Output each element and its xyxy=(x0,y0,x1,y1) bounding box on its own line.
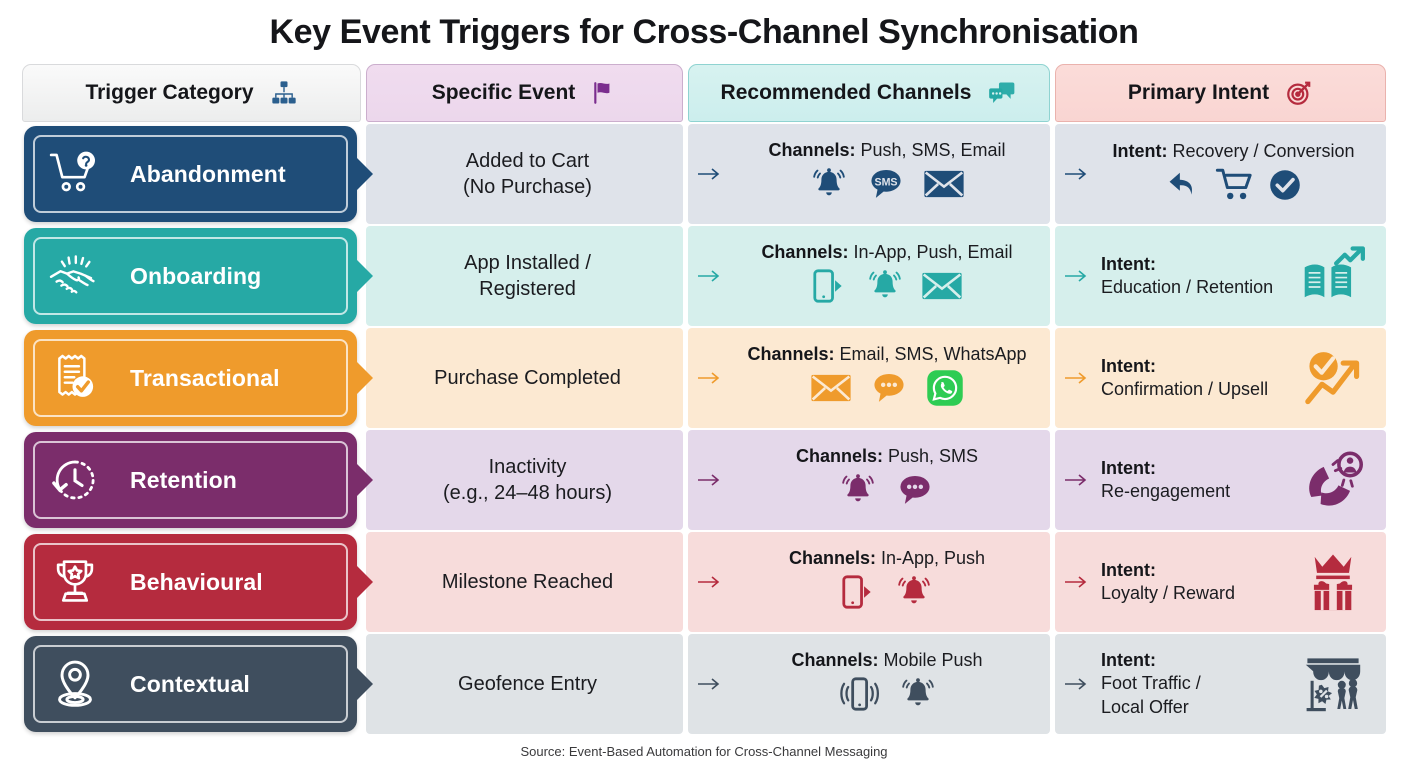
intent-cell: Intent: Recovery / Conversion xyxy=(1055,124,1386,224)
event-label: Geofence Entry xyxy=(458,671,597,697)
event-label: App Installed / Registered xyxy=(464,250,591,302)
intent-label: Intent: xyxy=(1101,356,1156,376)
intent-value: Re-engagement xyxy=(1101,480,1290,503)
channels-value: In-App, Push, Email xyxy=(853,242,1012,262)
intent-text: Intent: Recovery / Conversion xyxy=(1112,140,1354,163)
channels-text: Channels: Push, SMS xyxy=(796,446,978,467)
source-caption: Source: Event-Based Automation for Cross… xyxy=(0,744,1408,759)
table-row: Contextual Geofence Entry Channels: Mobi… xyxy=(22,634,1386,734)
chat-bubbles-icon xyxy=(987,79,1017,107)
channels-value: In-App, Push xyxy=(881,548,985,568)
header-trigger-category: Trigger Category xyxy=(22,64,361,122)
intent-label: Intent: xyxy=(1112,141,1167,161)
event-label: Added to Cart (No Purchase) xyxy=(463,148,592,200)
arrow-icon xyxy=(1061,370,1091,386)
arrow-icon xyxy=(694,370,724,386)
event-cell: App Installed / Registered xyxy=(366,226,683,326)
row-notch xyxy=(356,157,373,191)
header-specific-event: Specific Event xyxy=(366,64,683,122)
intent-cell: Intent: Re-engagement xyxy=(1055,430,1386,530)
intent-label: Intent: xyxy=(1101,254,1156,274)
row-notch xyxy=(356,463,373,497)
infographic-page: Key Event Triggers for Cross-Channel Syn… xyxy=(0,0,1408,768)
envelope-icon xyxy=(810,371,852,410)
table-row: Behavioural Milestone Reached Channels: … xyxy=(22,532,1386,632)
category-cell: Behavioural xyxy=(22,532,361,632)
trigger-table: Trigger Category Specific Event xyxy=(22,64,1386,734)
arrow-icon xyxy=(694,676,724,692)
channel-icon-set xyxy=(810,369,964,412)
table-row: Abandonment Added to Cart (No Purchase) … xyxy=(22,124,1386,224)
channels-label: Channels: xyxy=(789,548,876,568)
mobile-signal-icon xyxy=(836,675,882,718)
arrow-icon xyxy=(1061,166,1091,182)
intent-label: Intent: xyxy=(1101,458,1156,478)
intent-cell: Intent: Education / Retention xyxy=(1055,226,1386,326)
intent-label: Intent: xyxy=(1101,560,1156,580)
bell-icon xyxy=(838,471,878,514)
intent-cell: Intent: Confirmation / Upsell xyxy=(1055,328,1386,428)
intent-cell: Intent: Loyalty / Reward xyxy=(1055,532,1386,632)
arrow-icon xyxy=(694,472,724,488)
channels-value: Email, SMS, WhatsApp xyxy=(839,344,1026,364)
header-label: Trigger Category xyxy=(85,81,253,105)
cart-icon xyxy=(1215,167,1257,208)
intent-value: Education / Retention xyxy=(1101,276,1290,299)
flag-icon xyxy=(591,79,617,107)
channel-icon-set xyxy=(836,675,938,718)
channels-value: Mobile Push xyxy=(883,650,982,670)
envelope-icon xyxy=(923,167,965,206)
category-label: Onboarding xyxy=(130,263,261,290)
intent-value: Foot Traffic / Local Offer xyxy=(1101,672,1290,718)
event-cell: Milestone Reached xyxy=(366,532,683,632)
event-cell: Geofence Entry xyxy=(366,634,683,734)
check-circle-icon xyxy=(1267,167,1303,208)
channels-cell: Channels: In-App, Push, Email xyxy=(688,226,1050,326)
book-growth-icon xyxy=(1290,246,1376,306)
clock-back-icon xyxy=(38,455,112,505)
channels-label: Channels: xyxy=(791,650,878,670)
channel-icon-set xyxy=(840,573,934,616)
magnet-user-icon xyxy=(1290,450,1376,510)
channels-value: Push, SMS xyxy=(888,446,978,466)
check-growth-icon xyxy=(1290,349,1376,407)
channels-text: Channels: Email, SMS, WhatsApp xyxy=(747,344,1026,365)
event-label: Inactivity (e.g., 24–48 hours) xyxy=(443,454,612,506)
channels-cell: Channels: Mobile Push xyxy=(688,634,1050,734)
intent-text: Intent: Foot Traffic / Local Offer xyxy=(1091,649,1290,718)
bell-icon xyxy=(865,267,905,310)
channels-text: Channels: Mobile Push xyxy=(791,650,982,671)
category-chip[interactable]: Onboarding xyxy=(24,228,357,324)
crown-gift-icon xyxy=(1290,551,1376,613)
channel-icon-set xyxy=(811,267,963,310)
category-chip[interactable]: Transactional xyxy=(24,330,357,426)
sms-bubble-icon: SMS xyxy=(865,165,907,208)
category-cell: Transactional xyxy=(22,328,361,428)
intent-value: Loyalty / Reward xyxy=(1101,582,1290,605)
channels-text: Channels: In-App, Push, Email xyxy=(761,242,1012,263)
row-notch xyxy=(356,565,373,599)
event-cell: Added to Cart (No Purchase) xyxy=(366,124,683,224)
intent-icon-set xyxy=(1165,167,1303,208)
cart-question-icon xyxy=(38,150,112,198)
intent-text: Intent: Confirmation / Upsell xyxy=(1091,355,1290,401)
channels-label: Channels: xyxy=(747,344,834,364)
category-chip[interactable]: Retention xyxy=(24,432,357,528)
arrow-icon xyxy=(1061,676,1091,692)
whatsapp-icon xyxy=(926,369,964,412)
target-icon xyxy=(1285,79,1313,107)
table-row: Onboarding App Installed / Registered Ch… xyxy=(22,226,1386,326)
category-cell: Abandonment xyxy=(22,124,361,224)
channels-value: Push, SMS, Email xyxy=(860,140,1005,160)
chat-dots-icon xyxy=(868,369,910,412)
svg-text:SMS: SMS xyxy=(874,176,897,188)
trophy-icon xyxy=(38,557,112,607)
event-cell: Inactivity (e.g., 24–48 hours) xyxy=(366,430,683,530)
intent-text: Intent: Re-engagement xyxy=(1091,457,1290,503)
event-label: Purchase Completed xyxy=(434,365,621,391)
category-chip[interactable]: Contextual xyxy=(24,636,357,732)
channel-icon-set: SMS xyxy=(809,165,965,208)
map-pin-icon xyxy=(38,658,112,710)
undo-arrow-icon xyxy=(1165,167,1205,208)
channels-cell: Channels: Email, SMS, WhatsApp xyxy=(688,328,1050,428)
channels-label: Channels: xyxy=(796,446,883,466)
intent-cell: Intent: Foot Traffic / Local Offer xyxy=(1055,634,1386,734)
channels-cell: Channels: In-App, Push xyxy=(688,532,1050,632)
row-notch xyxy=(356,361,373,395)
arrow-icon xyxy=(1061,472,1091,488)
category-cell: Contextual xyxy=(22,634,361,734)
storefront-icon xyxy=(1290,655,1376,713)
row-notch xyxy=(356,667,373,701)
row-notch xyxy=(356,259,373,293)
category-chip[interactable]: Behavioural xyxy=(24,534,357,630)
channels-text: Channels: Push, SMS, Email xyxy=(768,140,1005,161)
header-label: Specific Event xyxy=(432,81,576,105)
chat-dots-icon xyxy=(894,471,936,514)
category-cell: Onboarding xyxy=(22,226,361,326)
receipt-check-icon xyxy=(38,353,112,403)
arrow-icon xyxy=(694,166,724,182)
category-cell: Retention xyxy=(22,430,361,530)
category-label: Abandonment xyxy=(130,161,286,188)
channels-label: Channels: xyxy=(761,242,848,262)
table-header-row: Trigger Category Specific Event xyxy=(22,64,1386,122)
intent-value: Recovery / Conversion xyxy=(1172,141,1354,161)
handshake-icon xyxy=(38,252,112,300)
arrow-icon xyxy=(1061,574,1091,590)
arrow-icon xyxy=(694,574,724,590)
event-cell: Purchase Completed xyxy=(366,328,683,428)
header-label: Primary Intent xyxy=(1128,81,1269,105)
page-title: Key Event Triggers for Cross-Channel Syn… xyxy=(0,0,1408,64)
envelope-icon xyxy=(921,269,963,308)
intent-text: Intent: Loyalty / Reward xyxy=(1091,559,1290,605)
event-label: Milestone Reached xyxy=(442,569,613,595)
bell-icon xyxy=(809,165,849,208)
category-chip[interactable]: Abandonment xyxy=(24,126,357,222)
category-label: Retention xyxy=(130,467,237,494)
channels-cell: Channels: Push, SMS, Email xyxy=(688,124,1050,224)
mobile-arrow-icon xyxy=(811,267,849,310)
table-row: Retention Inactivity (e.g., 24–48 hours)… xyxy=(22,430,1386,530)
header-label: Recommended Channels xyxy=(721,81,972,105)
intent-text: Intent: Education / Retention xyxy=(1091,253,1290,299)
header-recommended-channels: Recommended Channels xyxy=(688,64,1050,122)
category-label: Transactional xyxy=(130,365,280,392)
mobile-arrow-icon xyxy=(840,573,878,616)
category-label: Behavioural xyxy=(130,569,263,596)
channel-icon-set xyxy=(838,471,936,514)
table-row: Transactional Purchase Completed Channel… xyxy=(22,328,1386,428)
channels-cell: Channels: Push, SMS xyxy=(688,430,1050,530)
sitemap-icon xyxy=(270,79,298,107)
channels-text: Channels: In-App, Push xyxy=(789,548,985,569)
bell-icon xyxy=(894,573,934,616)
channels-label: Channels: xyxy=(768,140,855,160)
bell-icon xyxy=(898,675,938,718)
arrow-icon xyxy=(1061,268,1091,284)
category-label: Contextual xyxy=(130,671,250,698)
arrow-icon xyxy=(694,268,724,284)
intent-value: Confirmation / Upsell xyxy=(1101,378,1290,401)
header-primary-intent: Primary Intent xyxy=(1055,64,1386,122)
intent-label: Intent: xyxy=(1101,650,1156,670)
